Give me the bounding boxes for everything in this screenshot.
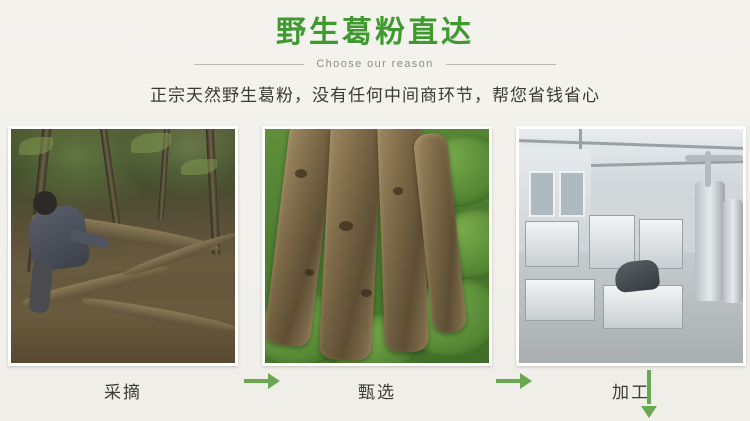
page-description: 正宗天然野生葛粉，没有任何中间商环节，帮您省钱省心 — [0, 84, 750, 108]
page-subtitle: Choose our reason — [316, 58, 433, 70]
storage-tank — [723, 199, 743, 303]
machine — [525, 279, 595, 321]
pipe — [685, 155, 743, 161]
root-speck — [393, 187, 403, 195]
machine — [525, 221, 579, 267]
promo-page: 野生葛粉直达 Choose our reason 正宗天然野生葛粉，没有任何中间… — [0, 0, 750, 421]
divider-left — [194, 64, 304, 65]
root-speck — [361, 289, 372, 297]
subtitle-row: Choose our reason — [0, 58, 750, 70]
step-card-1 — [8, 126, 238, 366]
photo-selection — [265, 129, 489, 363]
window — [559, 171, 585, 217]
step-card-2 — [262, 126, 492, 366]
divider-right — [446, 64, 556, 65]
page-title: 野生葛粉直达 — [0, 14, 750, 52]
arrow-down-icon — [640, 370, 658, 418]
arrow-shaft — [647, 370, 651, 404]
root-speck — [295, 169, 307, 178]
steps-row — [0, 126, 750, 376]
step-card-3 — [516, 126, 746, 366]
machine — [603, 285, 683, 329]
person-head — [33, 191, 57, 215]
photo-processing — [519, 129, 743, 363]
step-caption-1: 采摘 — [8, 378, 238, 403]
storage-tank — [695, 181, 725, 301]
photo-harvest — [11, 129, 235, 363]
window — [529, 171, 555, 217]
arrow-head — [641, 406, 657, 418]
root-speck — [305, 269, 314, 276]
pipe — [705, 151, 711, 187]
root-speck — [339, 221, 353, 231]
step-caption-2: 甄选 — [262, 378, 492, 403]
header: 野生葛粉直达 Choose our reason 正宗天然野生葛粉，没有任何中间… — [0, 0, 750, 108]
step-caption-3: 加工 — [516, 378, 746, 403]
